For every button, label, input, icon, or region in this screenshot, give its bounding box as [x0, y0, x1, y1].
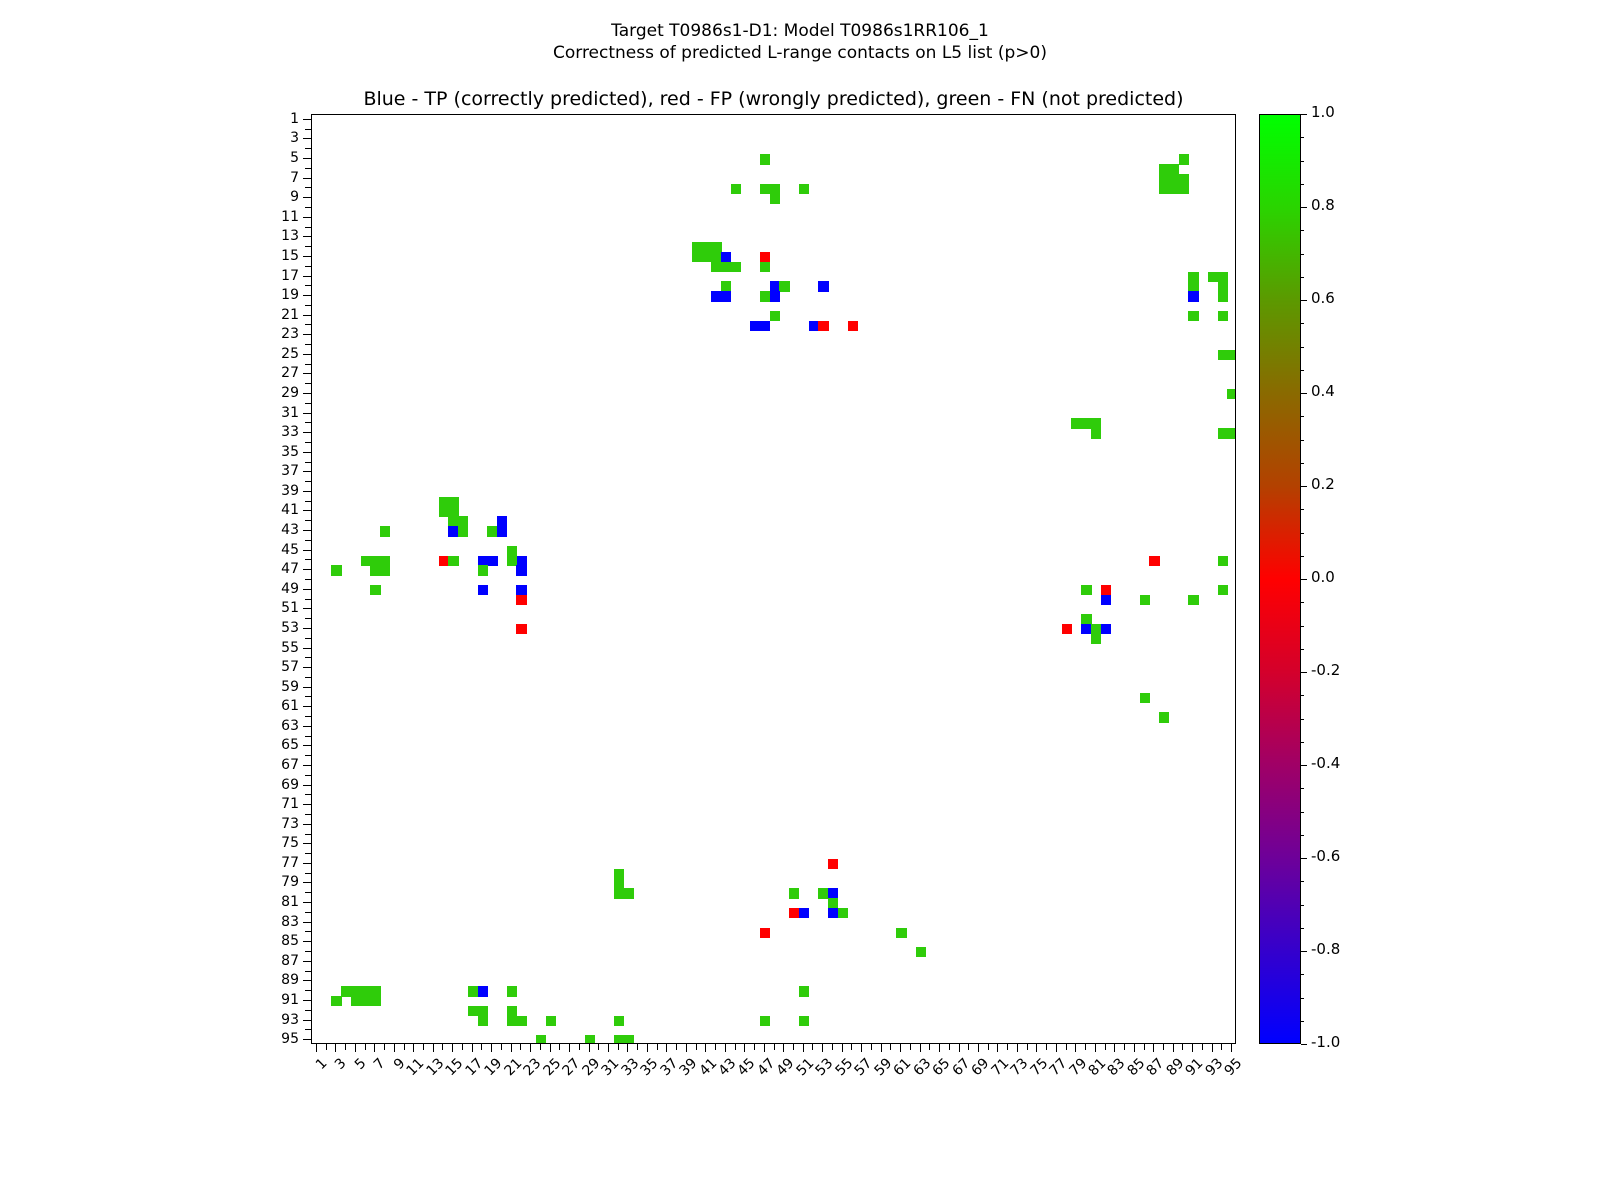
- y-tick: [303, 667, 311, 668]
- y-tick: [303, 413, 311, 414]
- colorbar-tick-label: -0.4: [1311, 756, 1340, 771]
- y-tick: [305, 755, 311, 756]
- x-tick: [988, 1044, 989, 1050]
- x-tick: [511, 1044, 512, 1052]
- y-tick-label: 1: [259, 112, 299, 126]
- contact-cell-fn: [1188, 311, 1198, 321]
- x-tick: [959, 1044, 960, 1052]
- x-tick: [764, 1044, 765, 1052]
- contact-cell-fn: [779, 281, 789, 291]
- y-tick: [305, 951, 311, 952]
- y-tick: [305, 168, 311, 169]
- x-tick: [1124, 1044, 1125, 1050]
- y-tick-label: 65: [259, 738, 299, 752]
- y-tick: [303, 882, 311, 883]
- contact-cell-tp: [478, 585, 488, 595]
- x-tick: [413, 1044, 414, 1052]
- colorbar-tick-label: 0.2: [1311, 477, 1335, 492]
- y-tick: [305, 520, 311, 521]
- y-tick: [303, 471, 311, 472]
- y-tick: [303, 843, 311, 844]
- colorbar-minor-tick: [1301, 533, 1304, 534]
- contact-cell-fn: [789, 888, 799, 898]
- contact-cell-tp: [1188, 291, 1198, 301]
- y-tick: [305, 246, 311, 247]
- y-tick: [303, 530, 311, 531]
- y-tick: [305, 931, 311, 932]
- x-tick: [384, 1044, 385, 1050]
- y-tick: [303, 315, 311, 316]
- colorbar-minor-tick: [1301, 254, 1304, 255]
- y-tick: [305, 1010, 311, 1011]
- contact-cell-fp: [848, 321, 858, 331]
- y-tick: [303, 648, 311, 649]
- y-tick-label: 13: [259, 229, 299, 243]
- x-tick: [997, 1044, 998, 1052]
- x-tick: [774, 1044, 775, 1050]
- contact-cell-tp: [497, 526, 507, 536]
- y-tick-label: 41: [259, 503, 299, 517]
- y-tick-label: 85: [259, 934, 299, 948]
- x-tick: [881, 1044, 882, 1052]
- y-tick-label: 71: [259, 797, 299, 811]
- y-tick: [305, 834, 311, 835]
- contact-cell-fn: [731, 262, 741, 272]
- colorbar-minor-tick: [1301, 719, 1304, 720]
- colorbar-minor-tick: [1301, 416, 1304, 417]
- x-tick: [978, 1044, 979, 1052]
- y-tick: [303, 452, 311, 453]
- x-tick: [812, 1044, 813, 1050]
- y-tick: [305, 912, 311, 913]
- y-tick: [303, 295, 311, 296]
- y-tick: [305, 481, 311, 482]
- x-tick: [1036, 1044, 1037, 1052]
- contact-cell-tp: [770, 291, 780, 301]
- y-tick: [303, 961, 311, 962]
- y-tick-label: 77: [259, 856, 299, 870]
- y-tick: [303, 510, 311, 511]
- colorbar-minor-tick: [1301, 463, 1304, 464]
- contact-cell-fn: [1091, 428, 1101, 438]
- plot-legend-title: Blue - TP (correctly predicted), red - F…: [311, 88, 1236, 110]
- x-tick: [1056, 1044, 1057, 1052]
- y-tick: [305, 559, 311, 560]
- y-tick: [305, 305, 311, 306]
- y-tick: [303, 276, 311, 277]
- contact-cell-fn: [760, 262, 770, 272]
- y-tick-label: 75: [259, 836, 299, 850]
- y-tick: [303, 1020, 311, 1021]
- y-tick: [303, 765, 311, 766]
- x-tick: [520, 1044, 521, 1050]
- x-tick: [1212, 1044, 1213, 1052]
- contact-cell-tp: [760, 321, 770, 331]
- x-tick: [744, 1044, 745, 1052]
- x-tick: [900, 1044, 901, 1052]
- y-tick: [303, 1000, 311, 1001]
- x-tick: [705, 1044, 706, 1052]
- y-tick: [305, 207, 311, 208]
- y-tick-label: 49: [259, 582, 299, 596]
- x-tick: [929, 1044, 930, 1050]
- y-tick-label: 31: [259, 406, 299, 420]
- contact-cell-fn: [1218, 291, 1228, 301]
- y-tick: [303, 256, 311, 257]
- y-tick-label: 5: [259, 151, 299, 165]
- figure-suptitle-line-2: Correctness of predicted L-range contact…: [0, 42, 1600, 64]
- y-tick: [305, 344, 311, 345]
- y-tick: [303, 432, 311, 433]
- contact-cell-fn: [1091, 634, 1101, 644]
- x-tick: [842, 1044, 843, 1052]
- x-tick: [686, 1044, 687, 1052]
- y-tick: [305, 187, 311, 188]
- colorbar-minor-tick: [1301, 184, 1304, 185]
- x-tick: [394, 1044, 395, 1052]
- x-tick: [735, 1044, 736, 1050]
- y-tick: [305, 677, 311, 678]
- colorbar-minor-tick: [1301, 370, 1304, 371]
- contact-cell-tp: [516, 565, 526, 575]
- contact-cell-fn: [1140, 595, 1150, 605]
- y-tick-label: 91: [259, 993, 299, 1007]
- y-tick: [303, 569, 311, 570]
- y-tick: [303, 863, 311, 864]
- y-tick: [303, 706, 311, 707]
- y-tick: [303, 589, 311, 590]
- colorbar-minor-tick: [1301, 137, 1304, 138]
- x-tick: [803, 1044, 804, 1052]
- contact-cell-fn: [1227, 350, 1236, 360]
- y-tick-label: 3: [259, 131, 299, 145]
- x-tick: [598, 1044, 599, 1050]
- contact-cell-fn: [507, 986, 517, 996]
- y-tick-label: 57: [259, 660, 299, 674]
- contact-cell-fn: [546, 1016, 556, 1026]
- contact-cell-fn: [331, 565, 341, 575]
- contact-cell-fn: [478, 565, 488, 575]
- x-tick: [1105, 1044, 1106, 1050]
- y-tick-label: 81: [259, 895, 299, 909]
- colorbar-minor-tick: [1301, 881, 1304, 882]
- contact-cell-fn: [916, 947, 926, 957]
- y-tick-label: 23: [259, 327, 299, 341]
- y-tick: [305, 794, 311, 795]
- y-tick: [303, 550, 311, 551]
- x-tick: [832, 1044, 833, 1050]
- y-tick: [305, 422, 311, 423]
- y-tick-label: 79: [259, 875, 299, 889]
- colorbar[interactable]: 1.00.80.60.40.20.0-0.2-0.4-0.6-0.8-1.0: [1259, 114, 1301, 1044]
- colorbar-minor-tick: [1301, 812, 1304, 813]
- contact-cell-tp: [478, 986, 488, 996]
- x-tick: [676, 1044, 677, 1050]
- x-tick: [1066, 1044, 1067, 1050]
- x-tick: [326, 1044, 327, 1050]
- y-tick: [305, 892, 311, 893]
- x-tick: [530, 1044, 531, 1052]
- colorbar-minor-tick: [1301, 440, 1304, 441]
- y-tick: [303, 178, 311, 179]
- y-tick-label: 55: [259, 641, 299, 655]
- contact-cell-fn: [624, 888, 634, 898]
- contact-cell-fn: [838, 908, 848, 918]
- contact-cells-layer: [312, 115, 1235, 1043]
- x-tick: [1153, 1044, 1154, 1052]
- y-tick: [305, 736, 311, 737]
- y-tick: [303, 941, 311, 942]
- y-tick: [305, 873, 311, 874]
- contact-cell-fn: [1179, 154, 1189, 164]
- x-tick: [1017, 1044, 1018, 1052]
- y-tick: [303, 922, 311, 923]
- x-tick-label: 3: [333, 1056, 349, 1072]
- x-tick-label: 7: [372, 1056, 388, 1072]
- x-tick: [442, 1044, 443, 1050]
- y-tick: [305, 442, 311, 443]
- contact-cell-fn: [1081, 585, 1091, 595]
- contact-cell-fn: [1159, 712, 1169, 722]
- y-tick: [305, 599, 311, 600]
- x-tick: [1114, 1044, 1115, 1052]
- x-tick: [890, 1044, 891, 1050]
- x-tick: [1192, 1044, 1193, 1052]
- y-tick: [303, 158, 311, 159]
- colorbar-tick-label: -0.8: [1311, 942, 1340, 957]
- colorbar-tick-label: 0.8: [1311, 198, 1335, 213]
- figure-canvas: Target T0986s1-D1: Model T0986s1RR106_1 …: [0, 0, 1600, 1200]
- contact-cell-fn: [458, 526, 468, 536]
- y-tick: [303, 119, 311, 120]
- contact-cell-fn: [799, 184, 809, 194]
- contact-cell-fp: [760, 928, 770, 938]
- figure-suptitle-line-1: Target T0986s1-D1: Model T0986s1RR106_1: [0, 20, 1600, 42]
- contact-cell-fp: [516, 624, 526, 634]
- x-tick: [355, 1044, 356, 1052]
- colorbar-tick: [1301, 579, 1307, 580]
- x-tick: [793, 1044, 794, 1050]
- colorbar-minor-tick: [1301, 161, 1304, 162]
- y-tick: [305, 148, 311, 149]
- colorbar-minor-tick: [1301, 556, 1304, 557]
- y-tick: [305, 383, 311, 384]
- y-tick: [303, 608, 311, 609]
- colorbar-tick-label: -0.6: [1311, 849, 1340, 864]
- colorbar-minor-tick: [1301, 649, 1304, 650]
- x-tick: [715, 1044, 716, 1050]
- y-tick: [305, 1029, 311, 1030]
- contact-cell-tp: [1101, 624, 1111, 634]
- x-tick-label: 5: [353, 1056, 369, 1072]
- y-tick-label: 17: [259, 269, 299, 283]
- y-tick: [303, 236, 311, 237]
- y-tick: [305, 716, 311, 717]
- x-tick: [822, 1044, 823, 1052]
- colorbar-tick-label: 1.0: [1311, 105, 1335, 120]
- y-tick: [305, 129, 311, 130]
- y-tick: [303, 354, 311, 355]
- y-tick-label: 67: [259, 758, 299, 772]
- colorbar-tick: [1301, 1044, 1307, 1045]
- y-tick: [303, 804, 311, 805]
- colorbar-tick: [1301, 951, 1307, 952]
- colorbar-tick: [1301, 858, 1307, 859]
- y-tick: [305, 540, 311, 541]
- contact-cell-fn: [536, 1035, 546, 1044]
- x-tick: [910, 1044, 911, 1050]
- x-tick: [725, 1044, 726, 1052]
- y-tick-label: 87: [259, 954, 299, 968]
- colorbar-minor-tick: [1301, 695, 1304, 696]
- x-tick: [754, 1044, 755, 1050]
- colorbar-minor-tick: [1301, 928, 1304, 929]
- y-tick: [303, 628, 311, 629]
- x-tick: [540, 1044, 541, 1050]
- x-tick: [579, 1044, 580, 1050]
- y-tick-label: 83: [259, 915, 299, 929]
- y-tick: [303, 824, 311, 825]
- x-tick: [452, 1044, 453, 1052]
- y-tick-label: 45: [259, 543, 299, 557]
- y-tick-label: 89: [259, 973, 299, 987]
- colorbar-minor-tick: [1301, 602, 1304, 603]
- y-tick-label: 73: [259, 817, 299, 831]
- x-tick: [1134, 1044, 1135, 1052]
- colorbar-tick: [1301, 765, 1307, 766]
- y-tick-label: 19: [259, 288, 299, 302]
- y-tick: [303, 687, 311, 688]
- x-tick: [939, 1044, 940, 1052]
- y-tick: [303, 373, 311, 374]
- contact-cell-tp: [1101, 595, 1111, 605]
- colorbar-minor-tick: [1301, 974, 1304, 975]
- y-tick-label: 33: [259, 425, 299, 439]
- y-tick: [303, 980, 311, 981]
- x-tick: [491, 1044, 492, 1052]
- y-tick-label: 53: [259, 621, 299, 635]
- colorbar-minor-tick: [1301, 905, 1304, 906]
- x-tick: [374, 1044, 375, 1052]
- colorbar-tick-label: 0.0: [1311, 570, 1335, 585]
- x-tick: [316, 1044, 317, 1052]
- x-tick: [404, 1044, 405, 1050]
- contact-cell-fp: [818, 321, 828, 331]
- y-tick-label: 15: [259, 249, 299, 263]
- y-tick-label: 11: [259, 210, 299, 224]
- colorbar-minor-tick: [1301, 347, 1304, 348]
- contact-cell-fn: [370, 996, 380, 1006]
- x-tick: [647, 1044, 648, 1052]
- y-tick: [305, 657, 311, 658]
- x-tick: [589, 1044, 590, 1052]
- y-tick-label: 37: [259, 464, 299, 478]
- y-tick-label: 47: [259, 562, 299, 576]
- contact-cell-tp: [487, 556, 497, 566]
- y-tick: [303, 393, 311, 394]
- y-tick-label: 9: [259, 190, 299, 204]
- contact-cell-fp: [828, 859, 838, 869]
- x-tick: [637, 1044, 638, 1050]
- y-tick: [305, 462, 311, 463]
- y-tick: [303, 138, 311, 139]
- colorbar-tick: [1301, 672, 1307, 673]
- contact-cell-fn: [516, 1016, 526, 1026]
- y-tick: [303, 745, 311, 746]
- x-tick: [423, 1044, 424, 1050]
- x-tick: [345, 1044, 346, 1050]
- contact-cell-fp: [1062, 624, 1072, 634]
- x-tick-label: 1: [314, 1056, 330, 1072]
- x-tick: [472, 1044, 473, 1052]
- y-tick: [303, 491, 311, 492]
- x-tick: [949, 1044, 950, 1050]
- x-tick-label: 95: [1223, 1056, 1246, 1079]
- colorbar-tick-label: 0.4: [1311, 384, 1335, 399]
- contact-cell-fn: [731, 184, 741, 194]
- x-tick: [1163, 1044, 1164, 1050]
- contact-map-plot[interactable]: [311, 114, 1236, 1044]
- y-tick-label: 93: [259, 1013, 299, 1027]
- y-tick-label: 27: [259, 366, 299, 380]
- colorbar-minor-tick: [1301, 509, 1304, 510]
- x-tick: [851, 1044, 852, 1050]
- colorbar-minor-tick: [1301, 788, 1304, 789]
- y-tick: [305, 696, 311, 697]
- y-tick-label: 51: [259, 601, 299, 615]
- contact-cell-fn: [1218, 311, 1228, 321]
- x-tick: [627, 1044, 628, 1052]
- x-tick: [365, 1044, 366, 1050]
- x-tick: [433, 1044, 434, 1052]
- contact-cell-fn: [448, 556, 458, 566]
- y-tick: [305, 853, 311, 854]
- y-tick-label: 35: [259, 445, 299, 459]
- contact-cell-fn: [760, 1016, 770, 1026]
- y-tick: [305, 364, 311, 365]
- colorbar-minor-tick: [1301, 742, 1304, 743]
- y-tick: [305, 403, 311, 404]
- y-tick-label: 59: [259, 680, 299, 694]
- colorbar-minor-tick: [1301, 835, 1304, 836]
- contact-cell-fn: [770, 193, 780, 203]
- contact-cell-fn: [1179, 184, 1189, 194]
- contact-cell-fn: [380, 526, 390, 536]
- y-tick-label: 21: [259, 308, 299, 322]
- contact-cell-tp: [721, 291, 731, 301]
- x-tick: [1027, 1044, 1028, 1050]
- contact-cell-fn: [1227, 428, 1236, 438]
- x-tick: [462, 1044, 463, 1050]
- colorbar-tick-label: 0.6: [1311, 291, 1335, 306]
- colorbar-minor-tick: [1301, 323, 1304, 324]
- contact-cell-fn: [799, 1016, 809, 1026]
- contact-cell-fn: [1218, 556, 1228, 566]
- colorbar-tick-label: -1.0: [1311, 1035, 1340, 1050]
- colorbar-gradient: [1259, 114, 1301, 1044]
- y-tick-label: 95: [259, 1032, 299, 1046]
- y-tick: [303, 785, 311, 786]
- y-tick-label: 7: [259, 171, 299, 185]
- colorbar-minor-tick: [1301, 626, 1304, 627]
- contact-cell-fn: [1218, 585, 1228, 595]
- contact-cell-fp: [516, 595, 526, 605]
- y-tick: [303, 902, 311, 903]
- x-tick: [618, 1044, 619, 1050]
- y-tick: [305, 638, 311, 639]
- x-tick: [550, 1044, 551, 1052]
- x-tick: [1182, 1044, 1183, 1050]
